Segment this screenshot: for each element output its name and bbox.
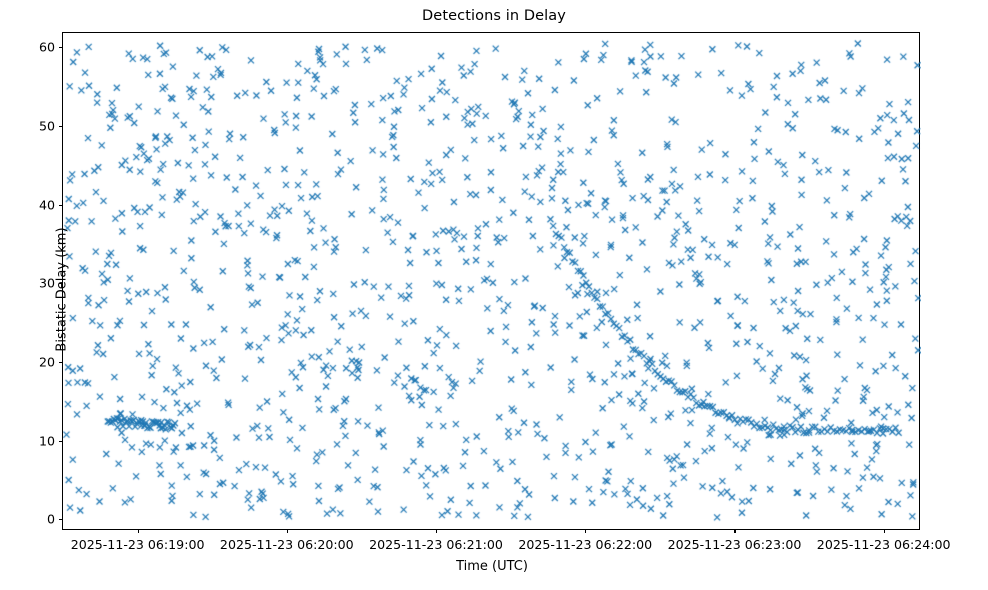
scatter-plot-canvas bbox=[63, 33, 921, 531]
x-tick-label: 2025-11-23 06:20:00 bbox=[220, 537, 354, 552]
y-tick-label: 40 bbox=[39, 197, 55, 212]
x-tick-mark bbox=[138, 529, 139, 533]
page-title: Detections in Delay bbox=[0, 8, 988, 24]
y-tick-label: 20 bbox=[39, 354, 55, 369]
x-tick-label: 2025-11-23 06:19:00 bbox=[71, 537, 205, 552]
x-tick-label: 2025-11-23 06:23:00 bbox=[668, 537, 802, 552]
x-tick-mark bbox=[287, 529, 288, 533]
y-tick-label: 50 bbox=[39, 118, 55, 133]
plot-axes: Bistatic Delay (km) 0102030405060 2025-1… bbox=[62, 32, 920, 530]
y-tick-label: 60 bbox=[39, 40, 55, 55]
y-tick-mark bbox=[59, 441, 63, 442]
y-tick-label: 10 bbox=[39, 433, 55, 448]
x-tick-mark bbox=[436, 529, 437, 533]
x-tick-mark bbox=[884, 529, 885, 533]
matplotlib-figure: Detections in Delay Bistatic Delay (km) … bbox=[0, 0, 988, 590]
y-tick-mark bbox=[59, 283, 63, 284]
y-tick-mark bbox=[59, 362, 63, 363]
y-tick-mark bbox=[59, 47, 63, 48]
y-tick-label: 0 bbox=[47, 512, 55, 527]
y-tick-mark bbox=[59, 205, 63, 206]
x-tick-label: 2025-11-23 06:22:00 bbox=[518, 537, 652, 552]
x-tick-label: 2025-11-23 06:21:00 bbox=[369, 537, 503, 552]
x-tick-mark bbox=[585, 529, 586, 533]
x-axis-label: Time (UTC) bbox=[63, 559, 921, 574]
y-tick-mark bbox=[59, 126, 63, 127]
y-tick-mark bbox=[59, 519, 63, 520]
y-tick-label: 30 bbox=[39, 276, 55, 291]
x-tick-mark bbox=[734, 529, 735, 533]
x-tick-label: 2025-11-23 06:24:00 bbox=[817, 537, 951, 552]
